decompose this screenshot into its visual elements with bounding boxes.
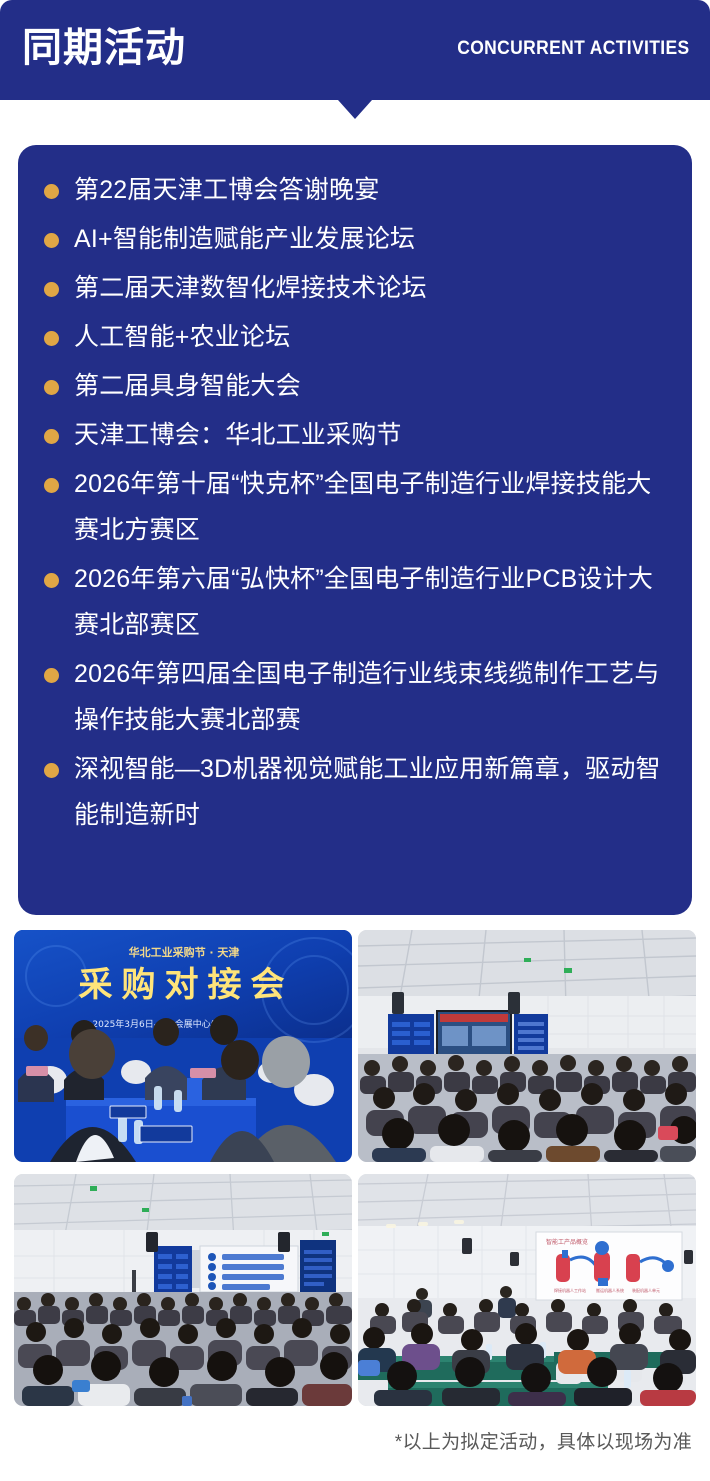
activity-label: 第二届天津数智化焊接技术论坛 (74, 265, 666, 311)
list-item[interactable]: 2026年第六届“弘快杯”全国电子制造行业PCB设计大赛北部赛区 (44, 556, 666, 648)
svg-text:华北工业采购节 · 天津: 华北工业采购节 · 天津 (129, 945, 240, 959)
photo-gallery: 华北工业采购节 · 天津 采购对接会 2025年3月6日-8日 会展中心(天津) (14, 930, 696, 1412)
bullet-dot-icon (44, 763, 59, 778)
svg-text:智能工产品概览: 智能工产品概览 (546, 1238, 588, 1246)
concurrent-activities-page: 同期活动 CONCURRENT ACTIVITIES 第22届天津工博会答谢晚宴… (0, 0, 710, 1481)
bullet-dot-icon (44, 429, 59, 444)
page-header: 同期活动 CONCURRENT ACTIVITIES (0, 0, 710, 100)
bullet-dot-icon (44, 668, 59, 683)
photo-conference-wide-audience[interactable] (14, 1174, 352, 1406)
activity-label: 2026年第四届全国电子制造行业线束线缆制作工艺与操作技能大赛北部赛 (74, 651, 666, 743)
activity-label: AI+智能制造赋能产业发展论坛 (74, 216, 666, 262)
bullet-dot-icon (44, 573, 59, 588)
activity-list-card: 第22届天津工博会答谢晚宴 AI+智能制造赋能产业发展论坛 第二届天津数智化焊接… (18, 145, 692, 915)
page-subtitle-english: CONCURRENT ACTIVITIES (458, 38, 690, 62)
header-pointer-triangle-icon (338, 100, 372, 119)
activity-list: 第22届天津工博会答谢晚宴 AI+智能制造赋能产业发展论坛 第二届天津数智化焊接… (44, 167, 666, 838)
list-item[interactable]: 深视智能—3D机器视觉赋能工业应用新篇章，驱动智能制造新时 (44, 746, 666, 838)
list-item[interactable]: 第二届具身智能大会 (44, 363, 666, 409)
list-item[interactable]: AI+智能制造赋能产业发展论坛 (44, 216, 666, 262)
activity-label: 2026年第六届“弘快杯”全国电子制造行业PCB设计大赛北部赛区 (74, 556, 666, 648)
list-item[interactable]: 2026年第十届“快克杯”全国电子制造行业焊接技能大赛北方赛区 (44, 461, 666, 553)
list-item[interactable]: 天津工博会：华北工业采购节 (44, 412, 666, 458)
page-title: 同期活动 (22, 28, 186, 72)
photo-procurement-matchmaking[interactable]: 华北工业采购节 · 天津 采购对接会 2025年3月6日-8日 会展中心(天津) (14, 930, 352, 1162)
footnote-disclaimer: *以上为拟定活动，具体以现场为准 (395, 1427, 692, 1454)
list-item[interactable]: 第22届天津工博会答谢晚宴 (44, 167, 666, 213)
svg-text:采购对接会: 采购对接会 (79, 965, 294, 1005)
bullet-dot-icon (44, 233, 59, 248)
bullet-dot-icon (44, 380, 59, 395)
activity-label: 人工智能+农业论坛 (74, 314, 666, 360)
svg-text:装配机器人单元: 装配机器人单元 (632, 1287, 660, 1293)
bullet-dot-icon (44, 478, 59, 493)
list-item[interactable]: 人工智能+农业论坛 (44, 314, 666, 360)
photo-forum-audience-hall[interactable] (358, 930, 696, 1162)
svg-text:搬运机器人系统: 搬运机器人系统 (596, 1287, 624, 1293)
activity-label: 深视智能—3D机器视觉赋能工业应用新篇章，驱动智能制造新时 (74, 746, 666, 838)
activity-label: 第22届天津工博会答谢晚宴 (74, 167, 666, 213)
list-item[interactable]: 第二届天津数智化焊接技术论坛 (44, 265, 666, 311)
bullet-dot-icon (44, 184, 59, 199)
bullet-dot-icon (44, 331, 59, 346)
svg-text:焊接机器人工作站: 焊接机器人工作站 (554, 1287, 586, 1293)
bullet-dot-icon (44, 282, 59, 297)
list-item[interactable]: 2026年第四届全国电子制造行业线束线缆制作工艺与操作技能大赛北部赛 (44, 651, 666, 743)
photo-technical-presentation[interactable]: 智能工产品概览 焊接机器人工作站搬运机器人系统装配机器人单元 (358, 1174, 696, 1406)
activity-label: 2026年第十届“快克杯”全国电子制造行业焊接技能大赛北方赛区 (74, 461, 666, 553)
activity-label: 天津工博会：华北工业采购节 (74, 412, 666, 458)
activity-label: 第二届具身智能大会 (74, 363, 666, 409)
